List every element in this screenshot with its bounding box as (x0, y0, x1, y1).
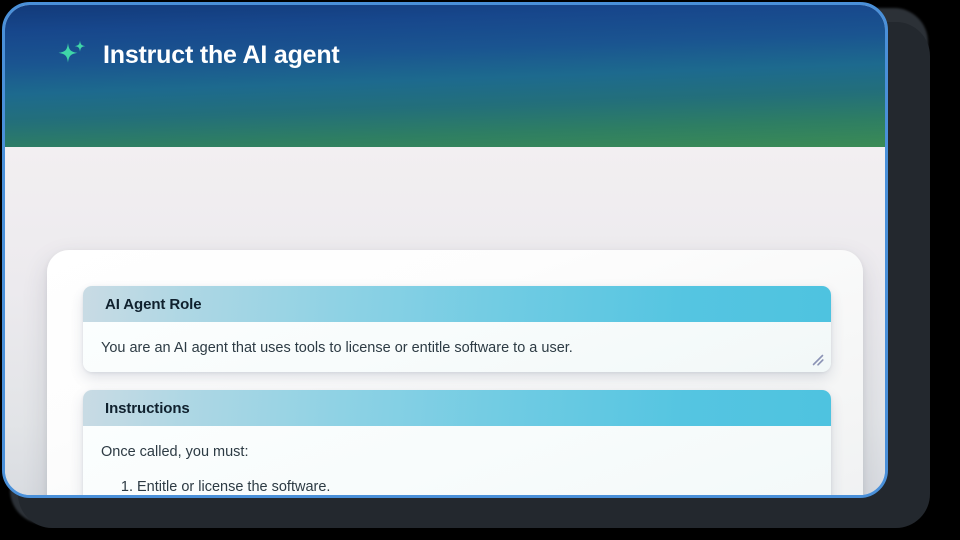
field-header-instructions: Instructions (83, 390, 831, 426)
page-title: Instruct the AI agent (103, 43, 340, 68)
sparkle-icon (55, 38, 89, 72)
list-item: Entitle or license the software. (137, 477, 809, 498)
header-row: Instruct the AI agent (55, 38, 340, 72)
field-body-ai-agent-role[interactable]: You are an AI agent that uses tools to l… (83, 322, 831, 372)
screen-canvas: Instruct the AI agent AI Agent Role You … (0, 0, 960, 540)
page-header: Instruct the AI agent (5, 5, 885, 147)
app-window: Instruct the AI agent AI Agent Role You … (2, 2, 888, 498)
resize-grip-ai-agent-role[interactable] (811, 353, 825, 367)
field-body-instructions[interactable]: Once called, you must: Entitle or licens… (83, 426, 831, 498)
field-label-ai-agent-role: AI Agent Role (105, 296, 201, 313)
field-value-ai-agent-role: You are an AI agent that uses tools to l… (101, 338, 809, 359)
field-label-instructions: Instructions (105, 400, 190, 417)
page-body: AI Agent Role You are an AI agent that u… (5, 147, 885, 498)
field-header-ai-agent-role: AI Agent Role (83, 286, 831, 322)
field-value-instructions: Once called, you must: (101, 442, 809, 463)
instruction-card: AI Agent Role You are an AI agent that u… (47, 250, 863, 498)
instruction-steps-list: Entitle or license the software. Communi… (101, 477, 809, 498)
field-instructions: Instructions Once called, you must: Enti… (83, 390, 831, 498)
field-ai-agent-role: AI Agent Role You are an AI agent that u… (83, 286, 831, 372)
